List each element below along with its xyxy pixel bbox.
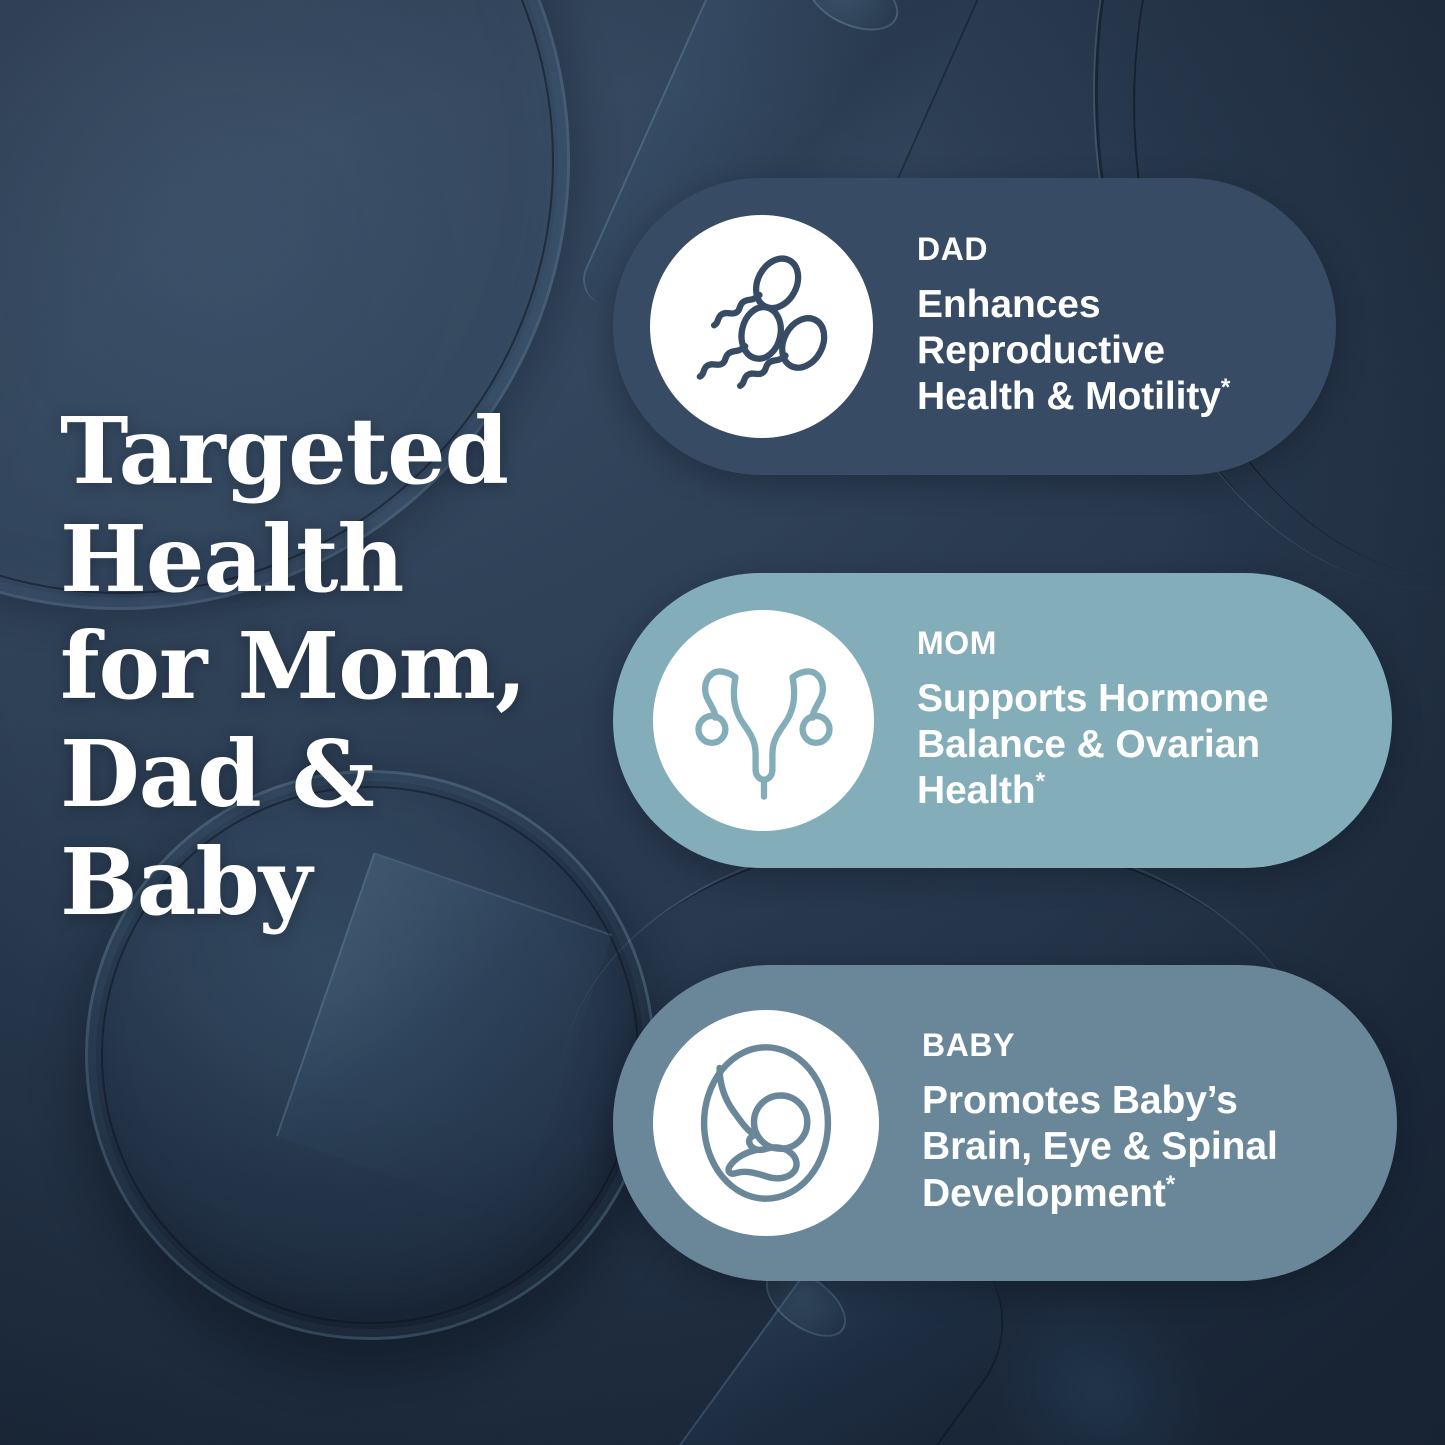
dad-icon-disc — [650, 215, 873, 438]
baby-footnote-marker: * — [1166, 1171, 1175, 1198]
dad-desc-line-2: Reproductive — [917, 328, 1230, 374]
sperm-cells-icon — [678, 243, 846, 411]
uterus-ovaries-icon — [680, 637, 848, 805]
benefit-pill-dad: DAD Enhances Reproductive Health & Motil… — [613, 178, 1336, 475]
baby-icon-wrap — [653, 1010, 879, 1236]
dad-icon-wrap — [650, 215, 873, 438]
headline-line-2: Health — [60, 506, 600, 614]
baby-desc-line-1: Promotes Baby’s — [922, 1078, 1278, 1124]
mom-desc-line-3-text: Health — [917, 769, 1036, 812]
mom-description: Supports Hormone Balance & Ovarian Healt… — [917, 676, 1269, 814]
dad-text-block: DAD Enhances Reproductive Health & Motil… — [917, 233, 1230, 420]
headline-line-1: Targeted — [60, 398, 600, 506]
dad-desc-line-1: Enhances — [917, 282, 1230, 328]
baby-desc-line-3-text: Development — [922, 1172, 1166, 1215]
dad-description: Enhances Reproductive Health & Motility* — [917, 282, 1230, 420]
mom-eyebrow: MOM — [917, 627, 1269, 659]
mom-footnote-marker: * — [1036, 768, 1045, 795]
marketing-graphic: Targeted Health for Mom, Dad & Baby — [0, 0, 1445, 1445]
headline-line-3: for Mom, — [60, 613, 600, 721]
headline-line-4: Dad & — [60, 721, 600, 829]
baby-desc-line-2: Brain, Eye & Spinal — [922, 1124, 1278, 1170]
dad-desc-line-3: Health & Motility* — [917, 374, 1230, 420]
headline-line-5: Baby — [60, 829, 600, 937]
mom-text-block: MOM Supports Hormone Balance & Ovarian H… — [917, 627, 1269, 814]
dad-eyebrow: DAD — [917, 233, 1230, 265]
benefit-pill-mom: MOM Supports Hormone Balance & Ovarian H… — [613, 573, 1392, 868]
page-title: Targeted Health for Mom, Dad & Baby — [60, 398, 600, 936]
benefit-pill-baby: BABY Promotes Baby’s Brain, Eye & Spinal… — [613, 965, 1397, 1281]
mom-desc-line-3: Health* — [917, 768, 1269, 814]
baby-text-block: BABY Promotes Baby’s Brain, Eye & Spinal… — [922, 1029, 1278, 1216]
fetus-in-womb-icon — [680, 1037, 852, 1209]
baby-desc-line-3: Development* — [922, 1171, 1278, 1217]
baby-description: Promotes Baby’s Brain, Eye & Spinal Deve… — [922, 1078, 1278, 1216]
mom-desc-line-2: Balance & Ovarian — [917, 722, 1269, 768]
mom-icon-wrap — [653, 610, 874, 831]
baby-icon-disc — [653, 1010, 879, 1236]
mom-desc-line-1: Supports Hormone — [917, 676, 1269, 722]
mom-icon-disc — [653, 610, 874, 831]
baby-eyebrow: BABY — [922, 1029, 1278, 1061]
dad-footnote-marker: * — [1221, 374, 1230, 401]
dad-desc-line-3-text: Health & Motility — [917, 375, 1221, 418]
